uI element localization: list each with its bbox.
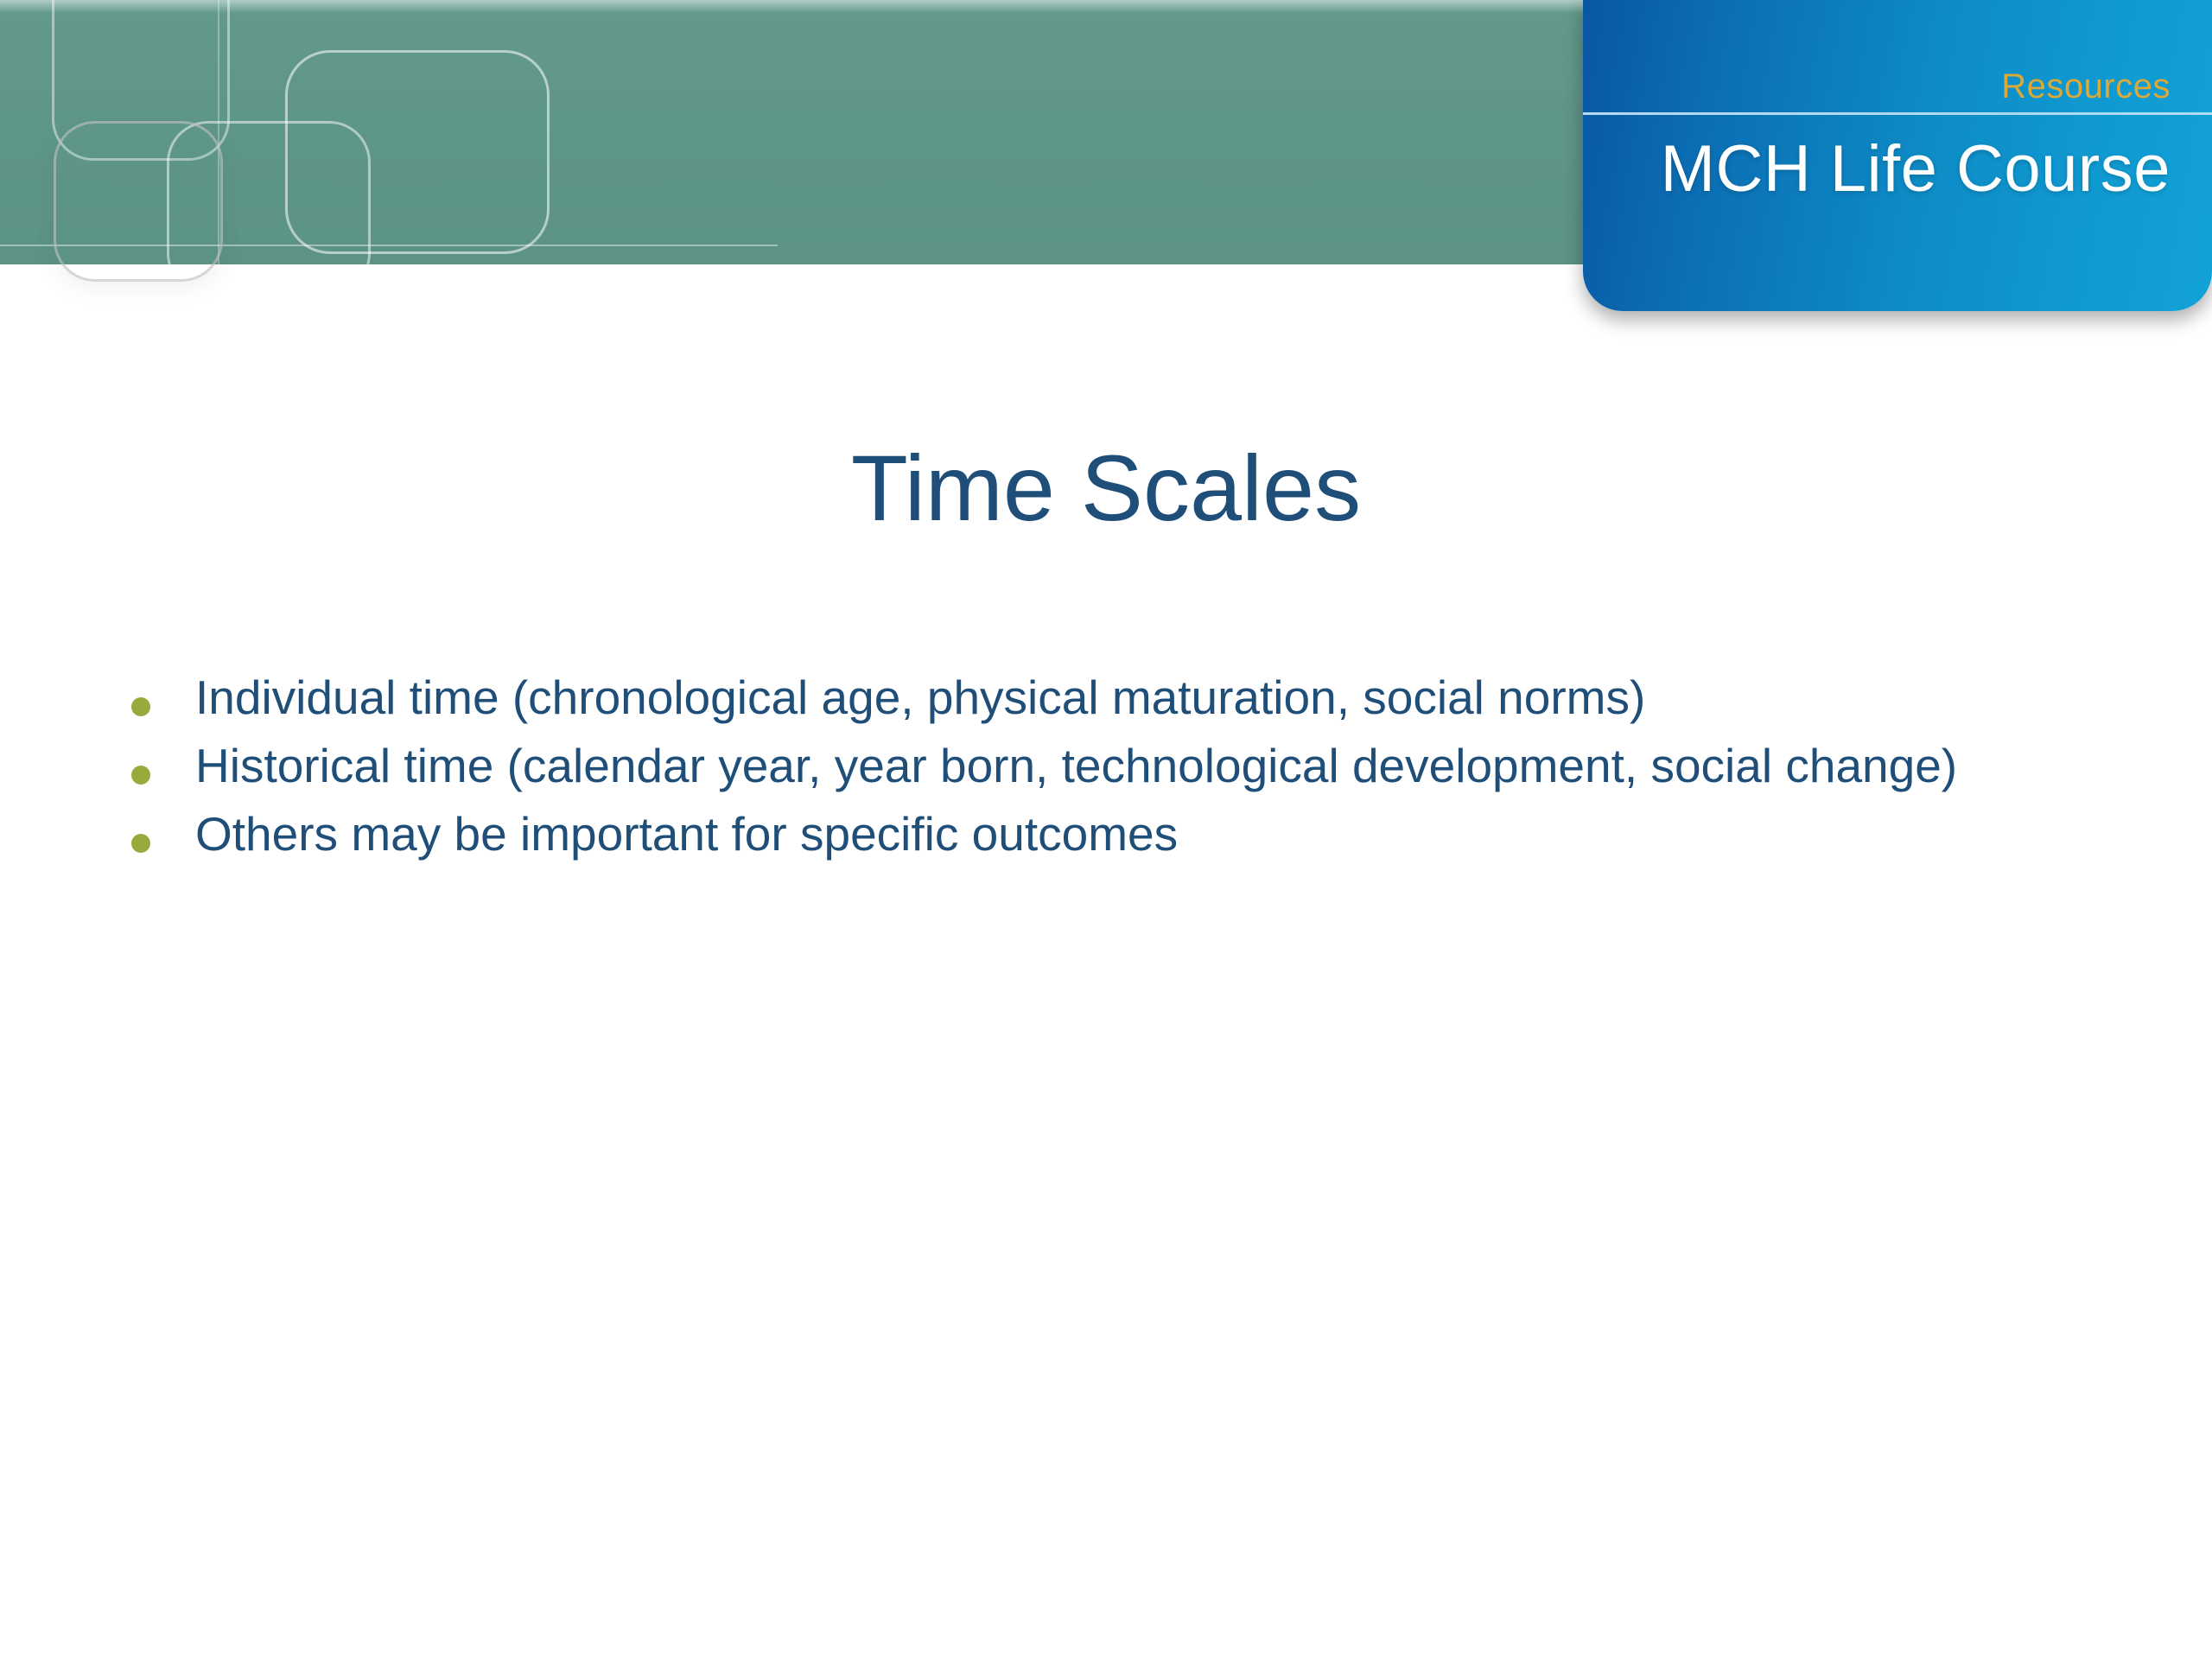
- decorative-rounded-rect-large: [285, 50, 550, 254]
- list-item: Historical time (calendar year, year bor…: [131, 738, 2093, 794]
- bullet-dot-icon: [131, 697, 150, 716]
- slide-title: Time Scales: [0, 439, 2212, 537]
- bullet-text: Others may be important for specific out…: [195, 806, 2010, 862]
- list-item: Individual time (chronological age, phys…: [131, 670, 2093, 726]
- logo-title-text: MCH Life Course: [1661, 131, 2171, 207]
- bullet-dot-icon: [131, 766, 150, 785]
- decorative-rounded-rect-lower: [54, 121, 223, 282]
- logo-panel: Resources MCH Life Course: [1583, 0, 2212, 311]
- bullet-list: Individual time (chronological age, phys…: [131, 670, 2093, 874]
- decorative-rounded-rect-medium: [167, 121, 371, 295]
- decorative-shapes-group: [0, 0, 778, 406]
- header-band-sheen: [0, 0, 1594, 12]
- logo-divider-rule: [1583, 112, 2212, 115]
- list-item: Others may be important for specific out…: [131, 806, 2093, 862]
- bullet-text: Historical time (calendar year, year bor…: [195, 738, 2010, 794]
- header-band: [0, 0, 1594, 264]
- decorative-vertical-line: [218, 0, 219, 363]
- logo-kicker-text: Resources: [2001, 67, 2171, 106]
- bullet-text: Individual time (chronological age, phys…: [195, 670, 2010, 726]
- decorative-rounded-rect-tall: [52, 0, 230, 161]
- presentation-slide: Resources MCH Life Course Time Scales In…: [0, 0, 2212, 1659]
- decorative-horizontal-line: [0, 245, 778, 246]
- bullet-dot-icon: [131, 834, 150, 853]
